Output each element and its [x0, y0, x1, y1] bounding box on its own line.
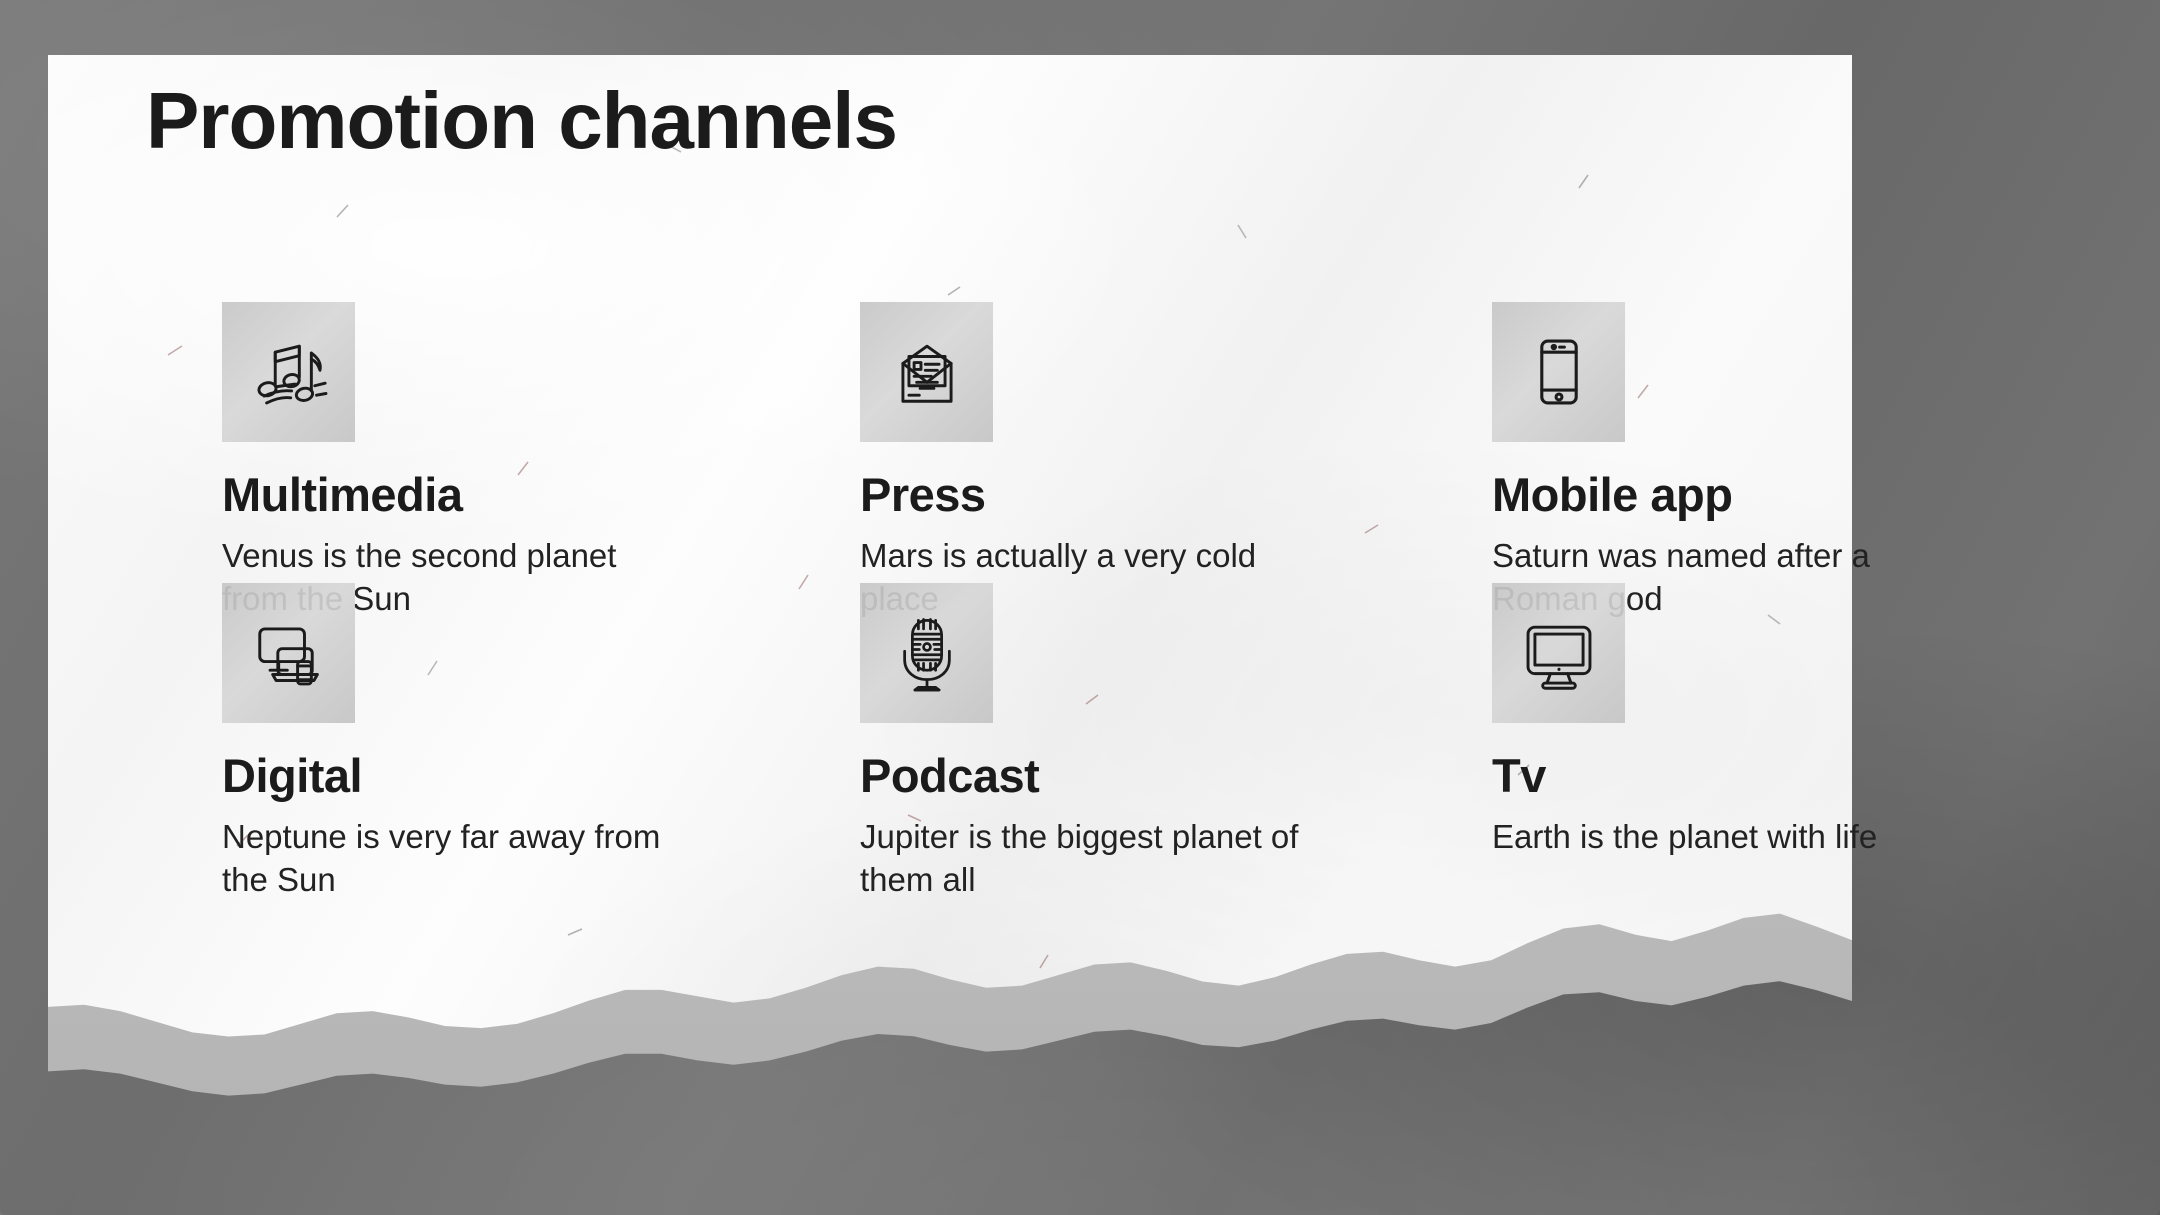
channel-card-mobile-app: Mobile app Saturn was named after a Roma… [1492, 302, 1962, 620]
channel-card-podcast: Podcast Jupiter is the biggest planet of… [860, 583, 1330, 901]
music-notes-icon [222, 302, 355, 442]
open-envelope-icon [860, 302, 993, 442]
channel-heading: Multimedia [222, 470, 692, 519]
channel-heading: Tv [1492, 751, 1962, 800]
channel-description: Jupiter is the biggest planet of them al… [860, 816, 1310, 900]
multi-device-icon [222, 583, 355, 723]
page-title: Promotion channels [146, 81, 897, 161]
channel-heading: Podcast [860, 751, 1330, 800]
channel-description: Neptune is very far away from the Sun [222, 816, 672, 900]
channel-card-digital: Digital Neptune is very far away from th… [222, 583, 692, 901]
channel-card-press: Press Mars is actually a very cold place [860, 302, 1330, 620]
microphone-icon [860, 583, 993, 723]
channel-card-multimedia: Multimedia Venus is the second planet fr… [222, 302, 692, 620]
channel-description: Earth is the planet with life [1492, 816, 1942, 858]
smartphone-icon [1492, 302, 1625, 442]
monitor-icon [1492, 583, 1625, 723]
channel-heading: Press [860, 470, 1330, 519]
channel-card-tv: Tv Earth is the planet with life [1492, 583, 1962, 859]
channel-heading: Mobile app [1492, 470, 1962, 519]
channel-heading: Digital [222, 751, 692, 800]
